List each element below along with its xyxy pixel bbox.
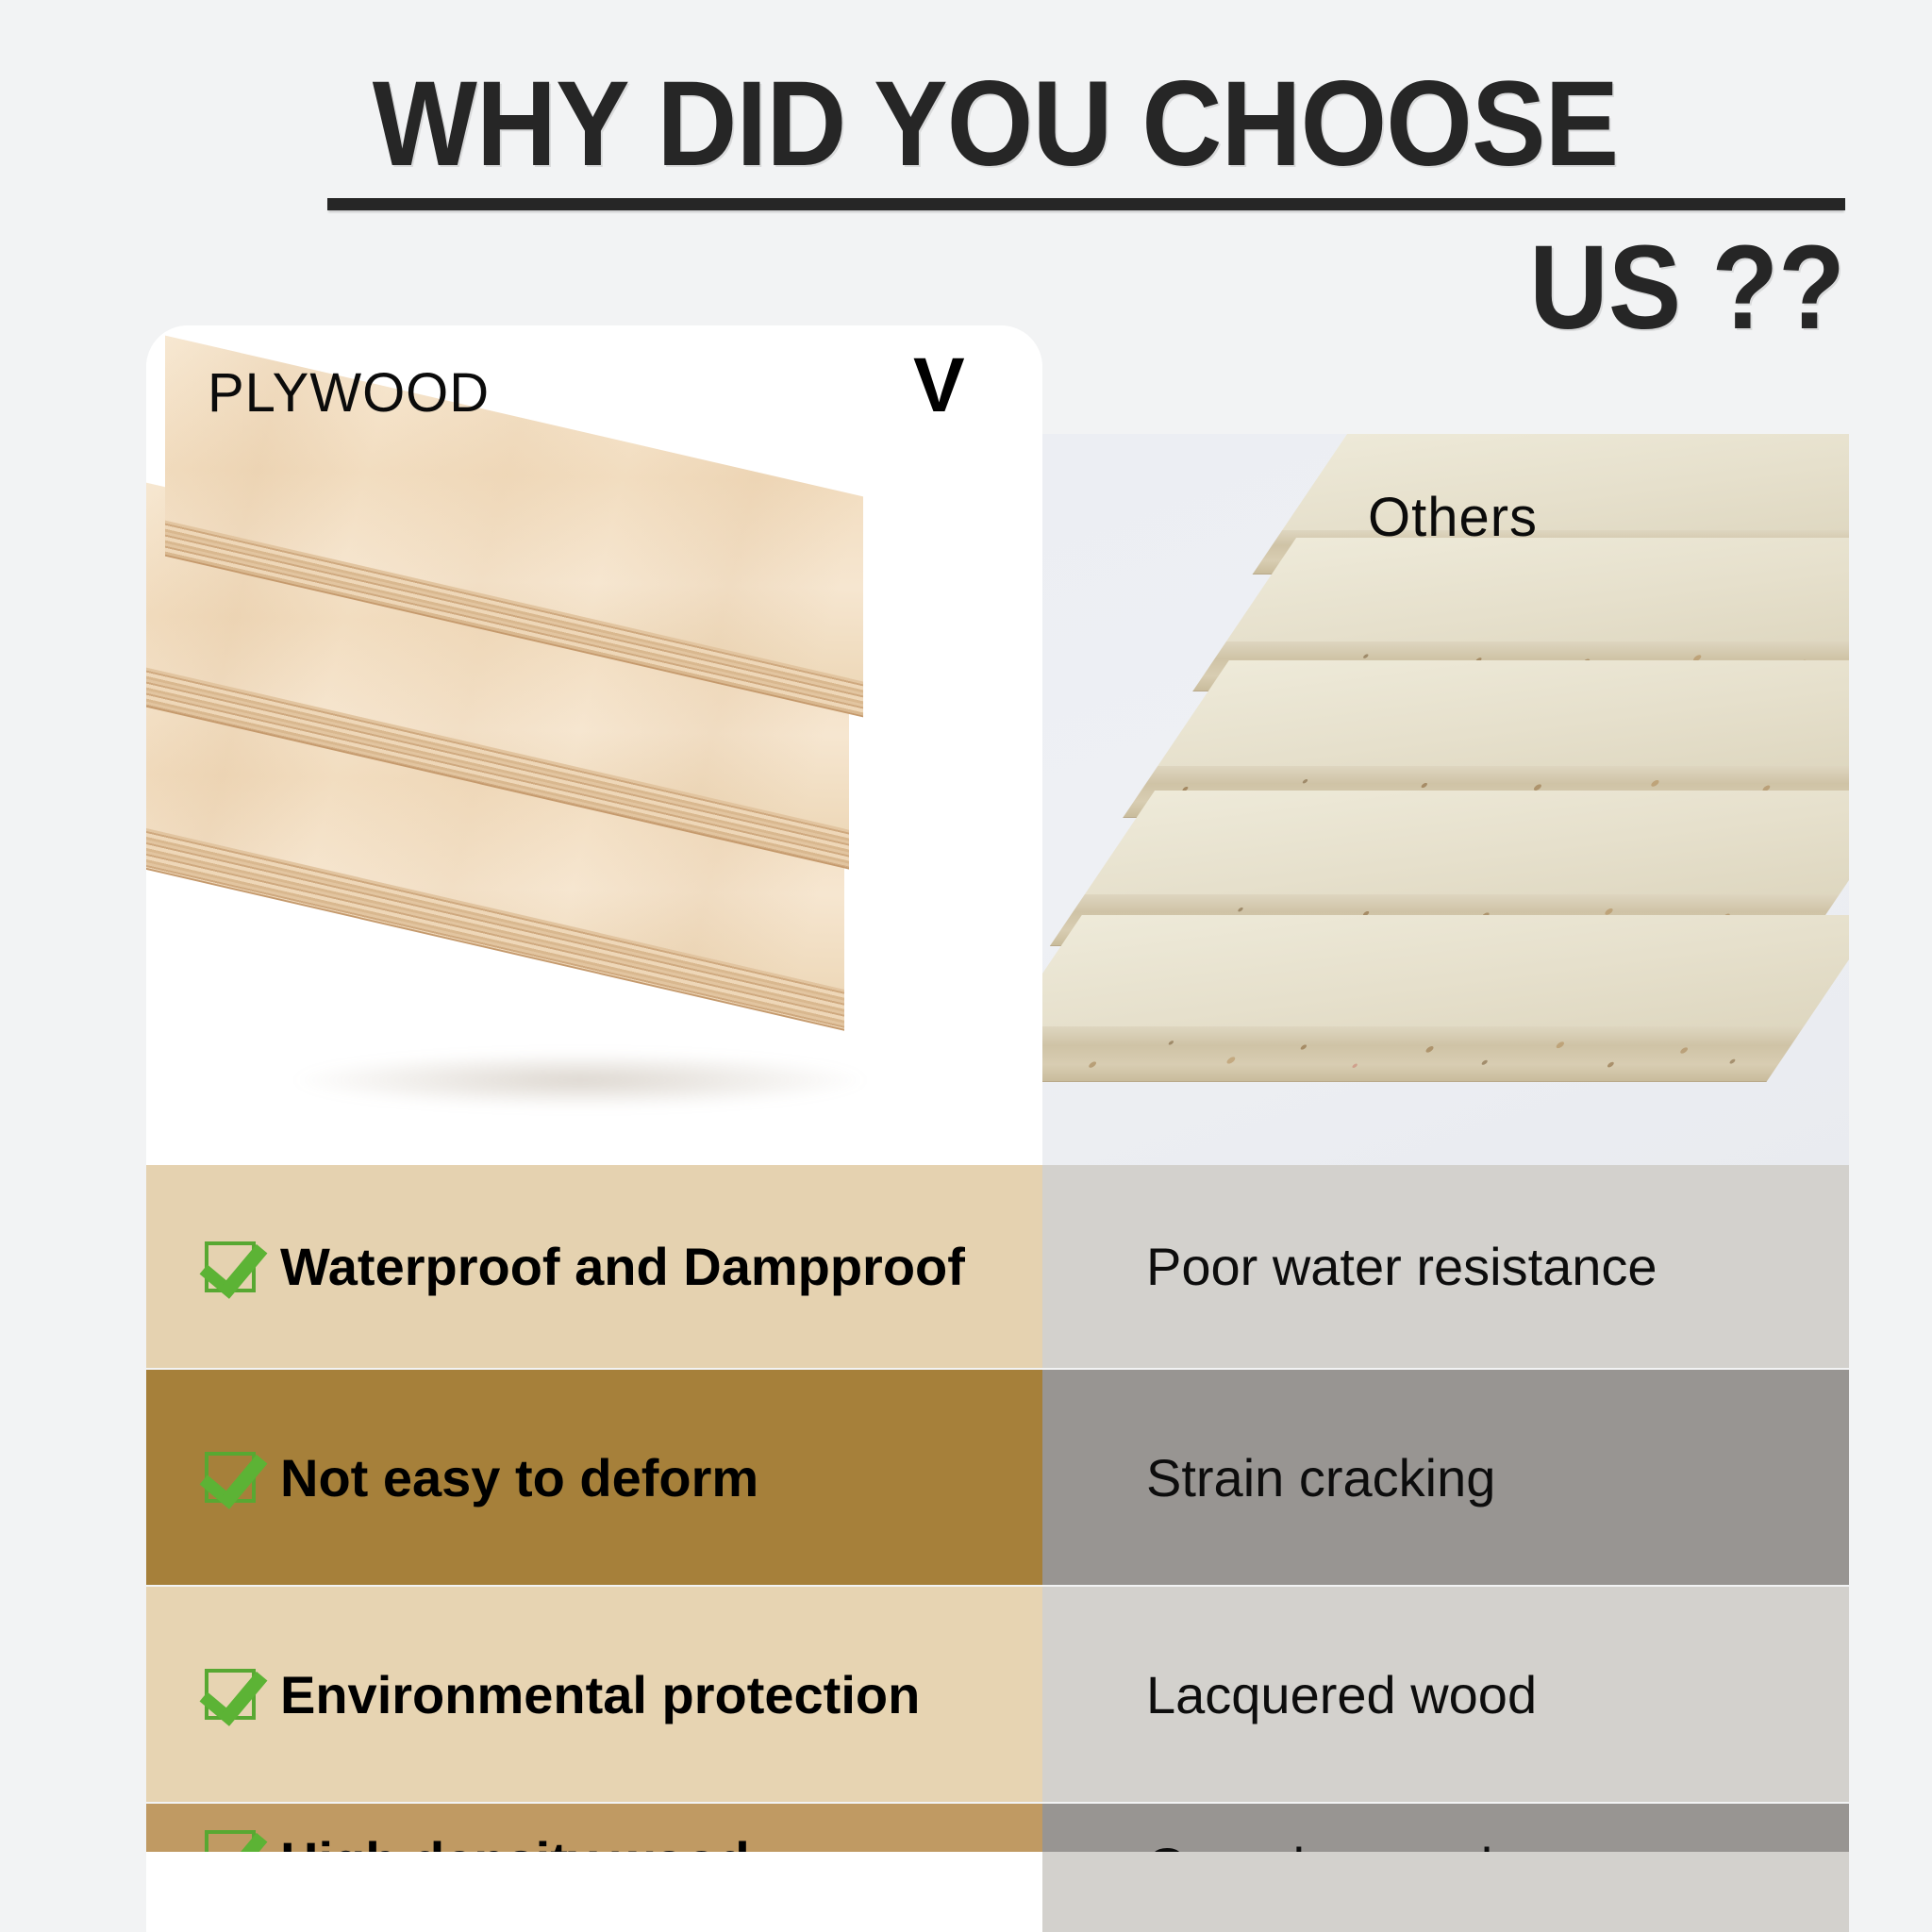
particleboard-sheet-4	[1085, 791, 1849, 894]
title-underline-rule	[327, 198, 1845, 210]
others-feature-label: Strain cracking	[1146, 1447, 1495, 1508]
plywood-feature-cell: Environmental protection	[146, 1587, 1042, 1802]
particleboard-sheet-2	[1226, 538, 1849, 641]
page-title-line-2: US ??	[1529, 219, 1845, 356]
plywood-image	[146, 325, 1042, 1165]
others-feature-cell: Strain cracking	[1042, 1370, 1849, 1585]
plywood-feature-label: Environmental protection	[280, 1664, 920, 1725]
sheet-top-face	[1226, 538, 1849, 641]
heading-block: WHY DID YOU CHOOSE US ??	[0, 0, 1932, 377]
table-row: Environmental protection Lacquered wood	[146, 1587, 1849, 1802]
plywood-feature-label: Not easy to deform	[280, 1447, 758, 1508]
left-column-footer-strip	[146, 1852, 1042, 1932]
table-row: Not easy to deform Strain cracking	[146, 1370, 1849, 1585]
plywood-feature-cell: Not easy to deform	[146, 1370, 1042, 1585]
plywood-drop-shadow	[288, 1052, 873, 1108]
sheet-top-face	[1085, 791, 1849, 894]
page-title-line-1: WHY DID YOU CHOOSE	[219, 55, 1773, 193]
others-panel-label: Others	[1368, 486, 1538, 549]
sheet-chip-edge	[1042, 1026, 1804, 1082]
right-column-footer-strip	[1042, 1852, 1849, 1932]
green-checkbox-checkmark-icon	[205, 1452, 256, 1503]
sheet-top-face	[1042, 915, 1849, 1026]
green-checkbox-checkmark-icon	[205, 1669, 256, 1720]
plywood-panel-label: PLYWOOD	[208, 361, 490, 425]
others-feature-label: Poor water resistance	[1146, 1236, 1657, 1297]
green-checkbox-checkmark-icon	[205, 1241, 256, 1292]
particleboard-sheet-3	[1158, 660, 1849, 766]
others-feature-label: Lacquered wood	[1146, 1664, 1537, 1725]
table-row: Waterproof and Dampproof Poor water resi…	[146, 1165, 1849, 1368]
plywood-feature-cell: Waterproof and Dampproof	[146, 1165, 1042, 1368]
chevron-down-icon: V	[913, 347, 965, 425]
others-feature-cell: Poor water resistance	[1042, 1165, 1849, 1368]
plywood-panel	[146, 325, 1042, 1165]
others-feature-cell: Lacquered wood	[1042, 1587, 1849, 1802]
particleboard-sheet-5	[1042, 915, 1849, 1026]
comparison-table: Waterproof and Dampproof Poor water resi…	[146, 1165, 1849, 1932]
sheet-top-face	[1158, 660, 1849, 766]
plywood-feature-label: Waterproof and Dampproof	[280, 1236, 965, 1297]
